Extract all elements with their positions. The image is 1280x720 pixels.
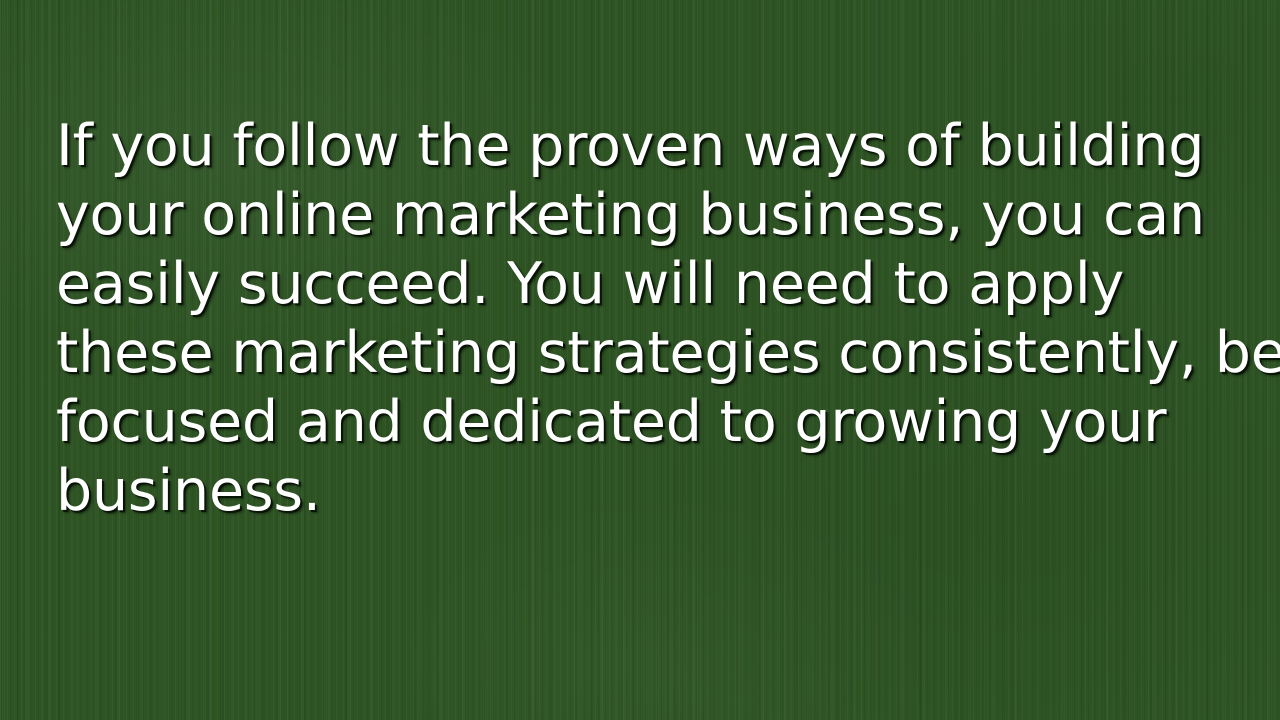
quote-line: If you follow the proven ways of buildin… bbox=[56, 112, 1246, 181]
quote-text-block: If you follow the proven ways of buildin… bbox=[56, 112, 1246, 526]
slide-canvas: If you follow the proven ways of buildin… bbox=[0, 0, 1280, 720]
quote-line: your online marketing business, you can bbox=[56, 181, 1246, 250]
quote-line: focused and dedicated to growing your bbox=[56, 388, 1246, 457]
quote-line: easily succeed. You will need to apply bbox=[56, 250, 1246, 319]
quote-line: business. bbox=[56, 457, 1246, 526]
quote-line: these marketing strategies consistently,… bbox=[56, 319, 1246, 388]
